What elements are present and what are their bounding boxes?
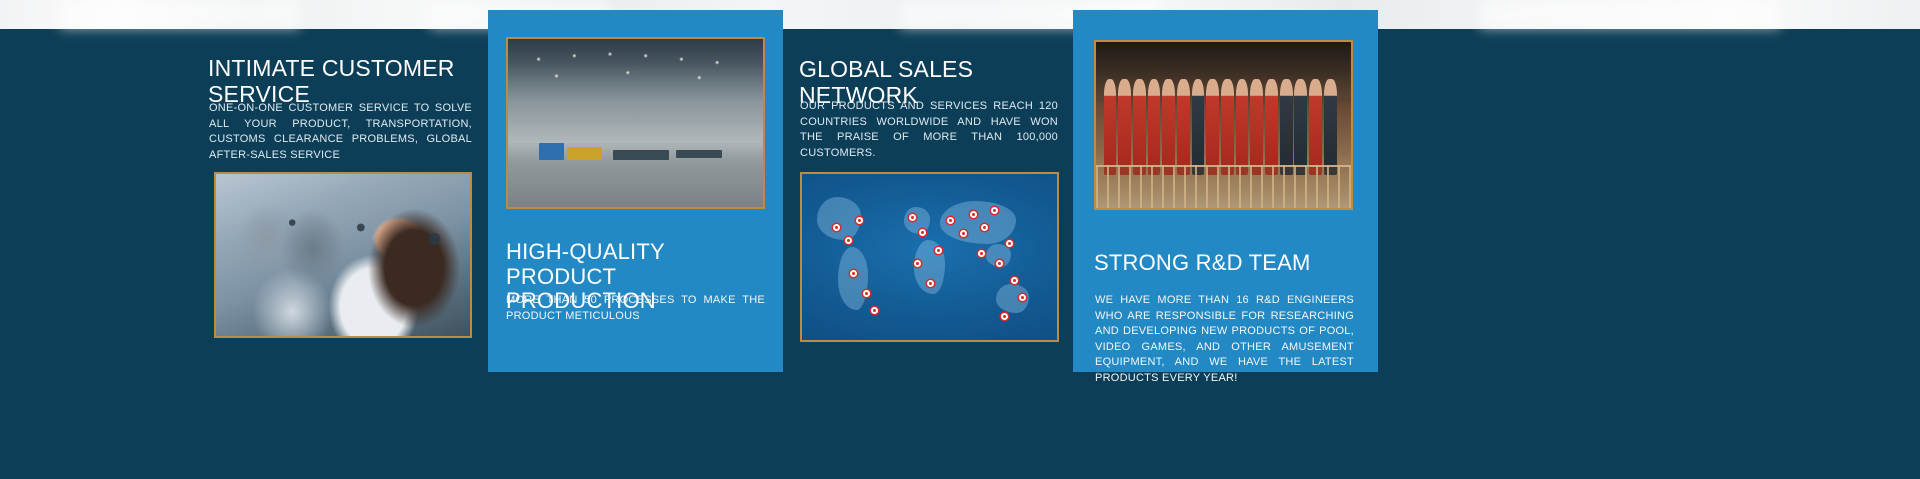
body-strong-rd-team: WE HAVE MORE THAN 16 R&D ENGINEERS WHO A…: [1095, 293, 1354, 387]
advantages-banner: INTIMATE CUSTOMER SERVICE ONE-ON-ONE CUS…: [0, 0, 1920, 479]
top-photo-strip: [0, 0, 1920, 29]
heading-strong-rd-team: STRONG R&D TEAM: [1094, 251, 1364, 276]
body-high-quality-product-production: MORE THAN 50 PROCESSES TO MAKE THE PRODU…: [506, 293, 765, 324]
body-intimate-customer-service: ONE-ON-ONE CUSTOMER SERVICE TO SOLVE ALL…: [209, 101, 472, 163]
world-sales-map: [800, 172, 1059, 342]
call-center-photo: [214, 172, 472, 338]
body-global-sales-network: OUR PRODUCTS AND SERVICES REACH 120 COUN…: [800, 99, 1058, 161]
heading-intimate-customer-service: INTIMATE CUSTOMER SERVICE: [208, 56, 508, 108]
rd-team-group-photo: [1094, 40, 1353, 210]
map-continents: [802, 174, 1057, 340]
factory-interior-photo: [506, 37, 765, 209]
